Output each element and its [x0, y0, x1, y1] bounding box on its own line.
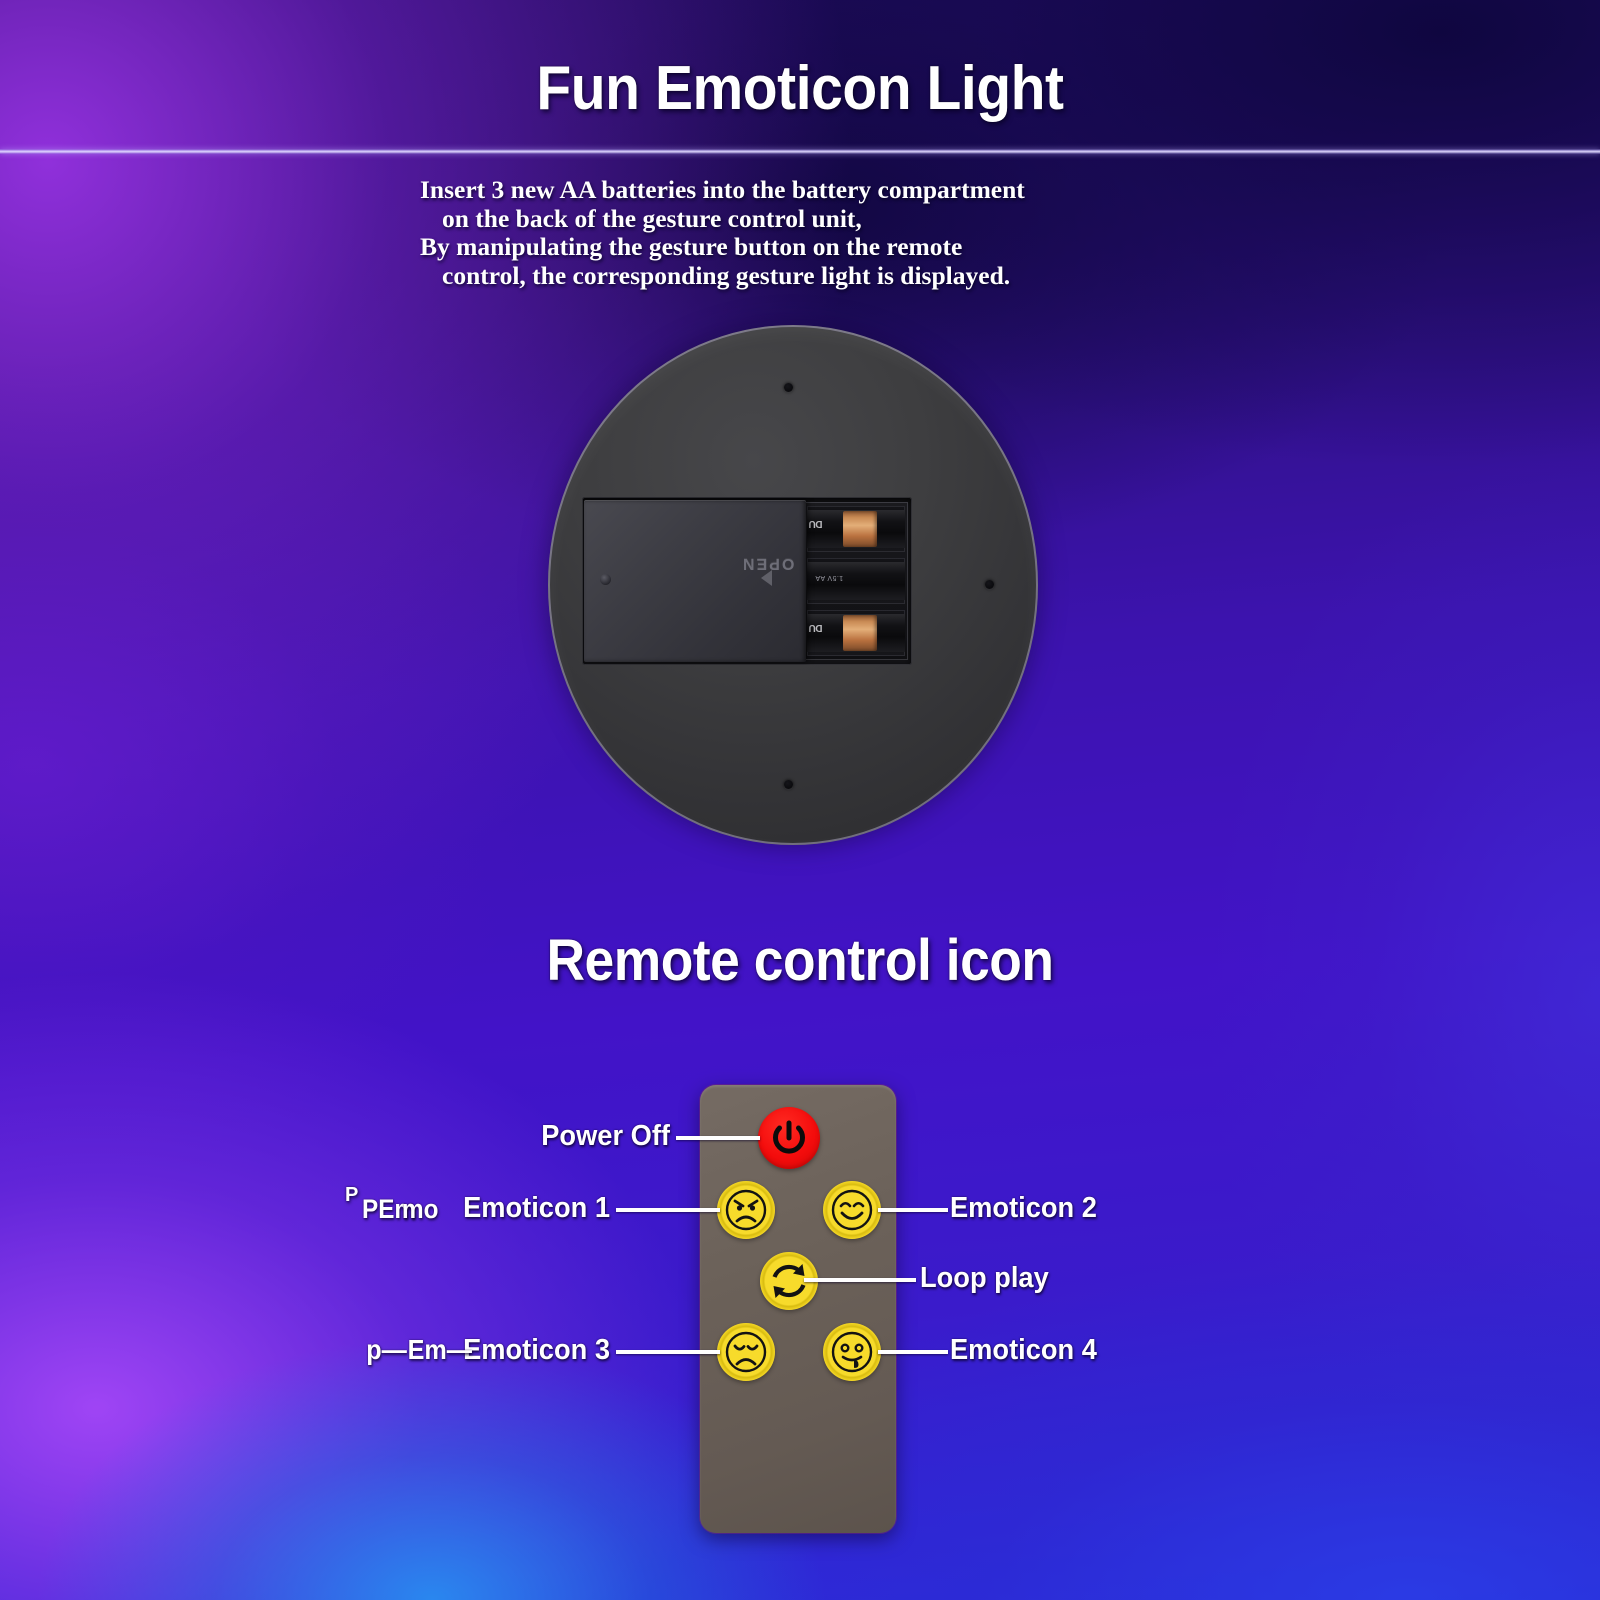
- screw-icon: [784, 780, 793, 789]
- tongue-face-icon: [830, 1330, 874, 1374]
- label-emoticon-4: Emoticon 4: [950, 1334, 1097, 1366]
- battery-spec-text: 1.5V AA: [815, 574, 843, 581]
- battery-cells: DU 1.5V AA DU: [804, 502, 908, 660]
- sad-face-icon: [724, 1330, 768, 1374]
- battery-brand-text: DU: [809, 622, 822, 633]
- ghost-fragment-emo1-a: P: [345, 1184, 358, 1207]
- instruction-line-4: control, the corresponding gesture light…: [420, 262, 1180, 291]
- product-infographic-page: Fun Emoticon Light Insert 3 new AA batte…: [0, 0, 1600, 1600]
- leader-line-emo4: [878, 1350, 948, 1354]
- instructions-block: Insert 3 new AA batteries into the batte…: [420, 176, 1180, 290]
- ghost-fragment-emo3-a: p—: [366, 1334, 407, 1366]
- happy-face-icon: [830, 1188, 874, 1232]
- header-divider: [0, 149, 1600, 154]
- angry-face-icon: [724, 1188, 768, 1232]
- cover-screw-icon: [600, 574, 611, 585]
- emoticon-2-button[interactable]: [823, 1181, 881, 1239]
- leader-line-emo1: [616, 1208, 720, 1212]
- remote-control-diagram: Power Off Emoticon 1 Emoticon 3 P PEm mo…: [0, 1080, 1600, 1550]
- battery-slot: DU: [807, 610, 905, 656]
- instruction-line-3: By manipulating the gesture button on th…: [420, 233, 1180, 262]
- battery-body: [807, 562, 905, 600]
- leader-line-power: [676, 1136, 760, 1140]
- label-emoticon-2: Emoticon 2: [950, 1192, 1097, 1224]
- battery-slot: 1.5V AA: [807, 558, 905, 604]
- cover-open-label: OPEN: [741, 554, 794, 572]
- screw-icon: [784, 383, 793, 392]
- emoticon-3-button[interactable]: [717, 1323, 775, 1381]
- product-photo-gesture-unit: DU 1.5V AA DU OPEN: [548, 325, 1038, 845]
- ghost-fragment-emo1-c: mo: [402, 1194, 438, 1225]
- emoticon-4-button[interactable]: [823, 1323, 881, 1381]
- power-icon: [758, 1107, 820, 1169]
- battery-positive-terminal: [843, 615, 877, 651]
- emoticon-1-button[interactable]: [717, 1181, 775, 1239]
- open-arrow-icon: [761, 570, 772, 586]
- instruction-line-2: on the back of the gesture control unit,: [420, 205, 1180, 234]
- leader-line-emo2: [878, 1208, 948, 1212]
- battery-positive-terminal: [843, 511, 877, 547]
- label-loop-play: Loop play: [920, 1262, 1049, 1294]
- battery-cover: OPEN: [584, 500, 806, 662]
- battery-brand-text: DU: [809, 518, 822, 529]
- leader-line-loop: [804, 1278, 916, 1282]
- page-title: Fun Emoticon Light: [64, 56, 1536, 122]
- label-emoticon-1: Emoticon 1: [290, 1192, 610, 1224]
- battery-slot: DU: [807, 506, 905, 552]
- section-title-remote-control: Remote control icon: [64, 930, 1536, 992]
- power-off-button[interactable]: [758, 1107, 820, 1169]
- battery-compartment: DU 1.5V AA DU OPEN: [582, 497, 912, 665]
- leader-line-emo3: [616, 1350, 720, 1354]
- instruction-line-1: Insert 3 new AA batteries into the batte…: [420, 176, 1180, 205]
- label-power-off: Power Off: [350, 1120, 670, 1152]
- ghost-fragment-emo3-b: Em—: [408, 1334, 472, 1366]
- screw-icon: [985, 580, 994, 589]
